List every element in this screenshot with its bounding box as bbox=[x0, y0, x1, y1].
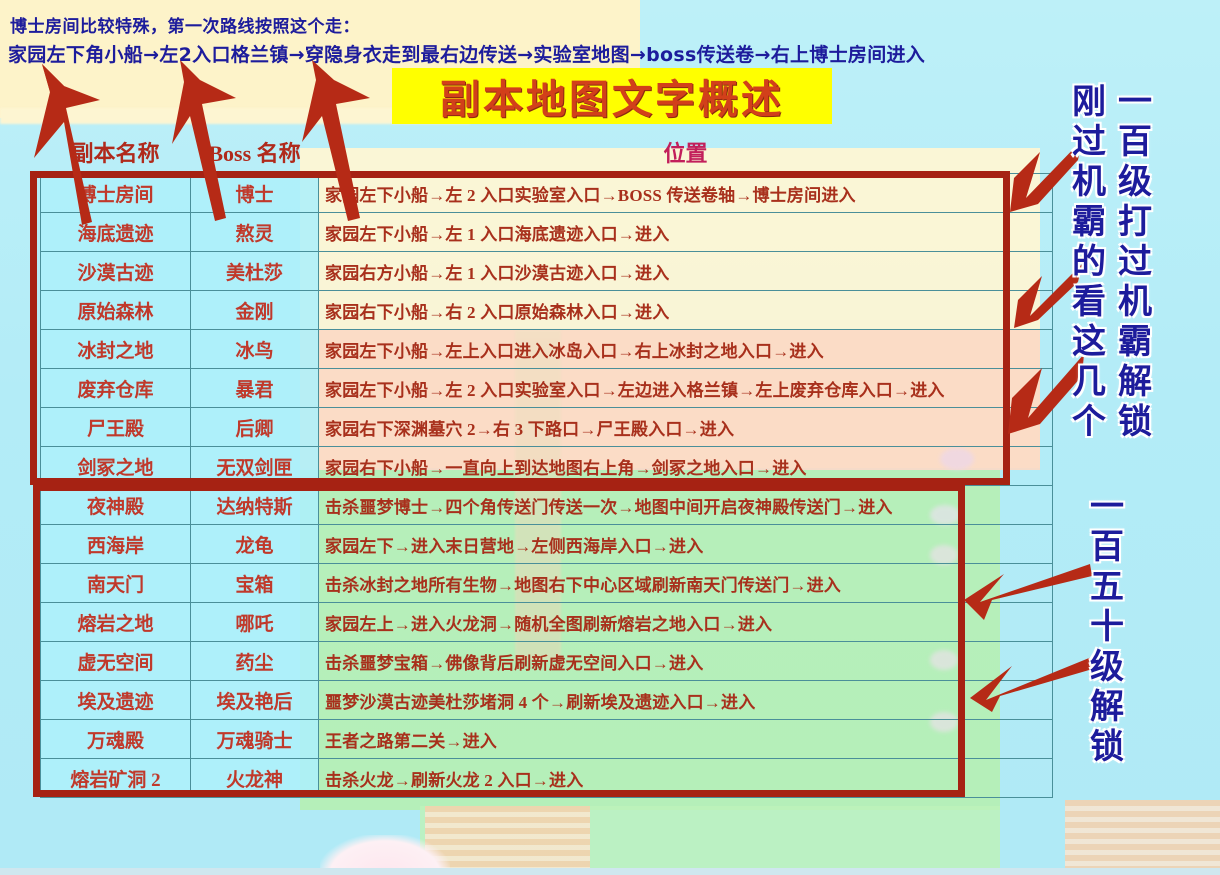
dungeon-table: 副本名称 Boss 名称 位置 博士房间博士家园左下小船→左 2 入口实验室入口… bbox=[40, 131, 1053, 798]
cell-boss-name: 暴君 bbox=[191, 369, 319, 408]
cell-boss-name: 达纳特斯 bbox=[191, 486, 319, 525]
table-body: 博士房间博士家园左下小船→左 2 入口实验室入口→BOSS 传送卷轴→博士房间进… bbox=[41, 174, 1053, 798]
cell-dungeon-name: 埃及遗迹 bbox=[41, 681, 191, 720]
cell-location: 家园右下小船→右 2 入口原始森林入口→进入 bbox=[319, 291, 1053, 330]
cell-location: 家园左下小船→左 2 入口实验室入口→BOSS 传送卷轴→博士房间进入 bbox=[319, 174, 1053, 213]
cell-location: 家园右方小船→左 1 入口沙漠古迹入口→进入 bbox=[319, 252, 1053, 291]
cell-boss-name: 宝箱 bbox=[191, 564, 319, 603]
table-row: 冰封之地冰鸟家园左下小船→左上入口进入冰岛入口→右上冰封之地入口→进入 bbox=[41, 330, 1053, 369]
page-title: 副本地图文字概述 bbox=[392, 68, 832, 124]
page-title-text: 副本地图文字概述 bbox=[440, 67, 784, 125]
cell-location: 噩梦沙漠古迹美杜莎堵洞 4 个→刷新埃及遗迹入口→进入 bbox=[319, 681, 1053, 720]
instruction-line-2: 家园左下角小船→左2入口格兰镇→穿隐身衣走到最右边传送→实验室地图→boss传送… bbox=[8, 40, 925, 67]
column-header-location: 位置 bbox=[319, 131, 1053, 174]
cell-location: 家园左下小船→左 2 入口实验室入口→左边进入格兰镇→左上废弃仓库入口→进入 bbox=[319, 369, 1053, 408]
table-row: 剑冢之地无双剑匣家园右下小船→一直向上到达地图右上角→剑冢之地入口→进入 bbox=[41, 447, 1053, 486]
annotation-char: 霸 bbox=[1072, 202, 1106, 242]
table-row: 博士房间博士家园左下小船→左 2 入口实验室入口→BOSS 传送卷轴→博士房间进… bbox=[41, 174, 1053, 213]
cell-dungeon-name: 冰封之地 bbox=[41, 330, 191, 369]
table-row: 熔岩矿洞 2火龙神击杀火龙→刷新火龙 2 入口→进入 bbox=[41, 759, 1053, 798]
table-row: 废弃仓库暴君家园左下小船→左 2 入口实验室入口→左边进入格兰镇→左上废弃仓库入… bbox=[41, 369, 1053, 408]
cell-location: 家园左上→进入火龙洞→随机全图刷新熔岩之地入口→进入 bbox=[319, 603, 1053, 642]
cell-location: 家园左下小船→左上入口进入冰岛入口→右上冰封之地入口→进入 bbox=[319, 330, 1053, 369]
background-brick-right bbox=[1065, 800, 1220, 870]
table-header-row: 副本名称 Boss 名称 位置 bbox=[41, 131, 1053, 174]
cell-boss-name: 埃及艳后 bbox=[191, 681, 319, 720]
cell-boss-name: 美杜莎 bbox=[191, 252, 319, 291]
table-row: 原始森林金刚家园右下小船→右 2 入口原始森林入口→进入 bbox=[41, 291, 1053, 330]
table-row: 南天门宝箱击杀冰封之地所有生物→地图右下中心区域刷新南天门传送门→进入 bbox=[41, 564, 1053, 603]
cell-dungeon-name: 原始森林 bbox=[41, 291, 191, 330]
annotation-char: 机 bbox=[1072, 162, 1106, 202]
annotation-char: 打 bbox=[1118, 202, 1152, 242]
cell-boss-name: 万魂骑士 bbox=[191, 720, 319, 759]
cell-dungeon-name: 西海岸 bbox=[41, 525, 191, 564]
cell-dungeon-name: 熔岩矿洞 2 bbox=[41, 759, 191, 798]
annotation-char: 一 bbox=[1118, 82, 1152, 122]
screenshot-root: 博士房间比较特殊，第一次路线按照这个走： 家园左下角小船→左2入口格兰镇→穿隐身… bbox=[0, 0, 1220, 875]
cell-location: 家园左下小船→左 1 入口海底遗迹入口→进入 bbox=[319, 213, 1053, 252]
cell-location: 击杀火龙→刷新火龙 2 入口→进入 bbox=[319, 759, 1053, 798]
cell-location: 家园左下→进入末日营地→左侧西海岸入口→进入 bbox=[319, 525, 1053, 564]
cell-location: 王者之路第二关→进入 bbox=[319, 720, 1053, 759]
cell-location: 击杀噩梦宝箱→佛像背后刷新虚无空间入口→进入 bbox=[319, 642, 1053, 681]
cell-dungeon-name: 海底遗迹 bbox=[41, 213, 191, 252]
annotation-char: 过 bbox=[1072, 122, 1106, 162]
annotation-char: 一 bbox=[1090, 487, 1124, 527]
cell-dungeon-name: 熔岩之地 bbox=[41, 603, 191, 642]
annotation-column-left: 刚过机霸的看这几个 bbox=[1072, 82, 1106, 442]
annotation-char: 解 bbox=[1118, 362, 1152, 402]
table-row: 尸王殿后卿家园右下深渊墓穴 2→右 3 下路口→尸王殿入口→进入 bbox=[41, 408, 1053, 447]
table-row: 海底遗迹熬灵家园左下小船→左 1 入口海底遗迹入口→进入 bbox=[41, 213, 1053, 252]
table-row: 西海岸龙龟家园左下→进入末日营地→左侧西海岸入口→进入 bbox=[41, 525, 1053, 564]
cell-boss-name: 博士 bbox=[191, 174, 319, 213]
table-row: 沙漠古迹美杜莎家园右方小船→左 1 入口沙漠古迹入口→进入 bbox=[41, 252, 1053, 291]
cell-boss-name: 火龙神 bbox=[191, 759, 319, 798]
cell-dungeon-name: 夜神殿 bbox=[41, 486, 191, 525]
cell-boss-name: 熬灵 bbox=[191, 213, 319, 252]
annotation-char: 锁 bbox=[1090, 727, 1124, 767]
cell-location: 家园右下小船→一直向上到达地图右上角→剑冢之地入口→进入 bbox=[319, 447, 1053, 486]
annotation-char: 的 bbox=[1072, 242, 1106, 282]
column-header-dungeon: 副本名称 bbox=[41, 131, 191, 174]
cell-dungeon-name: 虚无空间 bbox=[41, 642, 191, 681]
instruction-line-1: 博士房间比较特殊，第一次路线按照这个走： bbox=[10, 12, 360, 37]
cell-boss-name: 后卿 bbox=[191, 408, 319, 447]
column-header-boss: Boss 名称 bbox=[191, 131, 319, 174]
annotation-char: 几 bbox=[1072, 362, 1106, 402]
annotation-char: 级 bbox=[1090, 647, 1124, 687]
cell-location: 家园右下深渊墓穴 2→右 3 下路口→尸王殿入口→进入 bbox=[319, 408, 1053, 447]
annotation-char: 看 bbox=[1072, 282, 1106, 322]
annotation-char: 五 bbox=[1090, 567, 1124, 607]
cell-dungeon-name: 万魂殿 bbox=[41, 720, 191, 759]
cell-dungeon-name: 沙漠古迹 bbox=[41, 252, 191, 291]
cell-location: 击杀噩梦博士→四个角传送门传送一次→地图中间开启夜神殿传送门→进入 bbox=[319, 486, 1053, 525]
annotation-char: 霸 bbox=[1118, 322, 1152, 362]
cell-dungeon-name: 尸王殿 bbox=[41, 408, 191, 447]
cell-boss-name: 金刚 bbox=[191, 291, 319, 330]
annotation-char: 百 bbox=[1118, 122, 1152, 162]
cell-dungeon-name: 博士房间 bbox=[41, 174, 191, 213]
annotation-char: 百 bbox=[1090, 527, 1124, 567]
annotation-char: 十 bbox=[1090, 607, 1124, 647]
annotation-char: 机 bbox=[1118, 282, 1152, 322]
cell-boss-name: 龙龟 bbox=[191, 525, 319, 564]
annotation-column-lower: 一百五十级解锁 bbox=[1090, 487, 1124, 767]
cell-location: 击杀冰封之地所有生物→地图右下中心区域刷新南天门传送门→进入 bbox=[319, 564, 1053, 603]
annotation-char: 个 bbox=[1072, 402, 1106, 442]
annotation-char: 锁 bbox=[1118, 402, 1152, 442]
table-row: 万魂殿万魂骑士王者之路第二关→进入 bbox=[41, 720, 1053, 759]
annotation-char: 这 bbox=[1072, 322, 1106, 362]
background-bottom-strip bbox=[0, 868, 1220, 875]
annotation-char: 解 bbox=[1090, 687, 1124, 727]
annotation-char: 刚 bbox=[1072, 82, 1106, 122]
cell-dungeon-name: 废弃仓库 bbox=[41, 369, 191, 408]
table-row: 熔岩之地哪吒家园左上→进入火龙洞→随机全图刷新熔岩之地入口→进入 bbox=[41, 603, 1053, 642]
annotation-char: 级 bbox=[1118, 162, 1152, 202]
table-head: 副本名称 Boss 名称 位置 bbox=[41, 131, 1053, 174]
cell-dungeon-name: 南天门 bbox=[41, 564, 191, 603]
cell-boss-name: 无双剑匣 bbox=[191, 447, 319, 486]
cell-dungeon-name: 剑冢之地 bbox=[41, 447, 191, 486]
annotation-column-right: 一百级打过机霸解锁 bbox=[1118, 82, 1152, 442]
cell-boss-name: 冰鸟 bbox=[191, 330, 319, 369]
cell-boss-name: 药尘 bbox=[191, 642, 319, 681]
table-row: 埃及遗迹埃及艳后噩梦沙漠古迹美杜莎堵洞 4 个→刷新埃及遗迹入口→进入 bbox=[41, 681, 1053, 720]
table-row: 夜神殿达纳特斯击杀噩梦博士→四个角传送门传送一次→地图中间开启夜神殿传送门→进入 bbox=[41, 486, 1053, 525]
table-row: 虚无空间药尘击杀噩梦宝箱→佛像背后刷新虚无空间入口→进入 bbox=[41, 642, 1053, 681]
annotation-char: 过 bbox=[1118, 242, 1152, 282]
cell-boss-name: 哪吒 bbox=[191, 603, 319, 642]
